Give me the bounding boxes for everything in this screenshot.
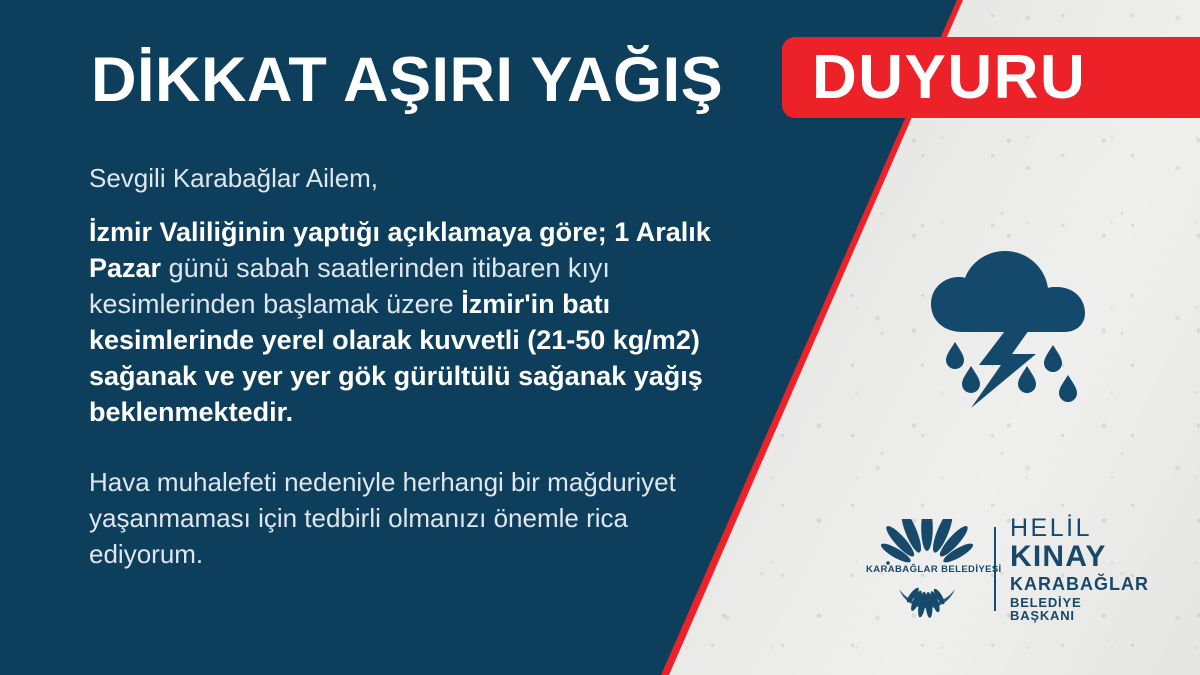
- logo-lockup: KARABAĞLAR BELEDİYESİ HELİL KINAY KARABA…: [866, 518, 1132, 620]
- municipality-name: KARABAĞLAR: [1010, 575, 1149, 593]
- thunderstorm-rain-icon: [905, 238, 1105, 413]
- bold-authority-statement: İzmir Valiliğinin yaptığı açıklamaya gör…: [89, 217, 607, 247]
- page-title: DİKKAT AŞIRI YAĞIŞ: [91, 47, 723, 113]
- mayor-last-name: KINAY: [1010, 542, 1149, 572]
- duyuru-banner-label: DUYURU: [782, 47, 1086, 109]
- salutation-text: Sevgili Karabağlar Ailem,: [89, 160, 729, 196]
- body-copy: Sevgili Karabağlar Ailem, İzmir Valiliği…: [89, 160, 729, 572]
- mayor-name-block: HELİL KINAY KARABAĞLAR BELEDİYE BAŞKANI: [1010, 516, 1149, 622]
- main-paragraph: İzmir Valiliğinin yaptığı açıklamaya gör…: [89, 214, 729, 430]
- mayor-title: BELEDİYE BAŞKANI: [1010, 596, 1149, 622]
- karabaglar-belediyesi-logo-icon: KARABAĞLAR BELEDİYESİ: [866, 519, 988, 619]
- closing-paragraph: Hava muhalefeti nedeniyle herhangi bir m…: [89, 464, 729, 572]
- announcement-poster: DUYURU DİKKAT AŞIRI YAĞIŞ Sevgili Karaba…: [0, 0, 1200, 675]
- logo-wordmark-text: KARABAĞLAR BELEDİYESİ: [866, 564, 988, 575]
- mayor-first-name: HELİL: [1010, 516, 1149, 541]
- duyuru-banner: DUYURU: [782, 37, 1200, 118]
